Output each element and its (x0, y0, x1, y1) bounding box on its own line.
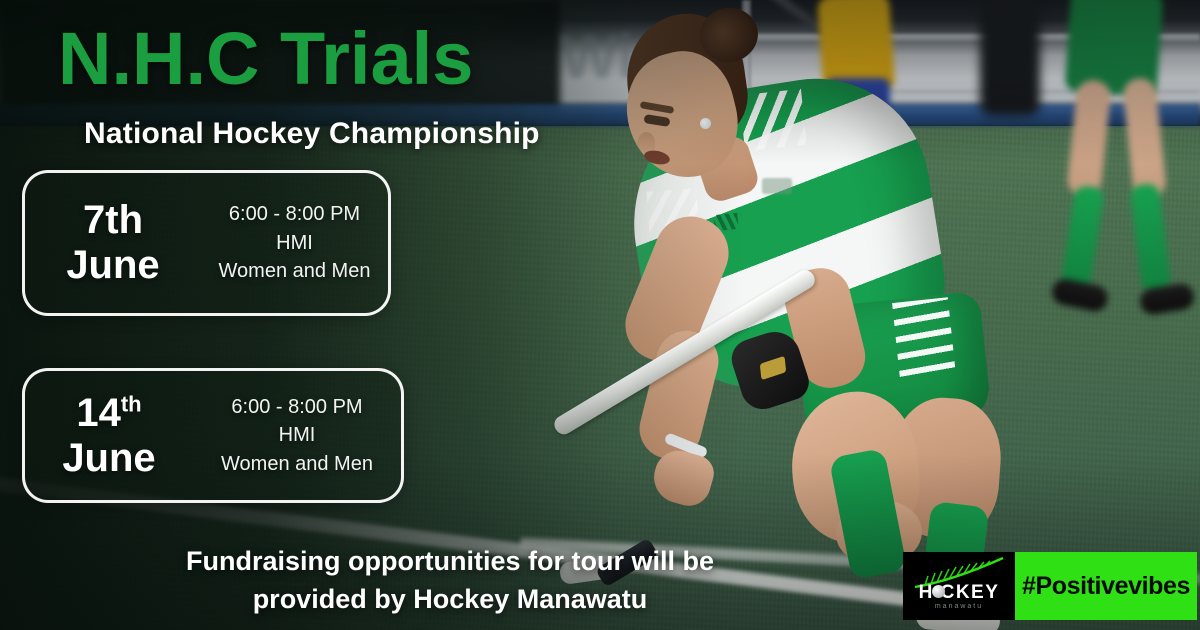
session-1-audience: Women and Men (201, 257, 388, 285)
session-2-details: 6:00 - 8:00 PM HMI Women and Men (193, 393, 401, 478)
session-1-month: June (66, 243, 159, 287)
hockey-ball-icon (932, 585, 945, 598)
session-2-month: June (62, 436, 155, 480)
hockey-manawatu-logo[interactable]: H CKEY manawatu (903, 552, 1015, 620)
hashtag-text: #Positivevibes (1022, 572, 1190, 601)
session-card-2[interactable]: 14th June 6:00 - 8:00 PM HMI Women and M… (22, 368, 404, 503)
session-2-venue: HMI (193, 421, 401, 449)
session-1-details: 6:00 - 8:00 PM HMI Women and Men (201, 200, 388, 285)
title-word-trials: Trials (280, 17, 473, 100)
session-1-day: 7th (83, 198, 143, 242)
session-1-time: 6:00 - 8:00 PM (201, 200, 388, 228)
session-1-venue: HMI (201, 229, 388, 257)
brand-strip: H CKEY manawatu #Positivevibes (903, 552, 1197, 620)
session-1-date: 7th June (25, 198, 201, 288)
logo-subtext: manawatu (903, 603, 1015, 610)
page-subtitle: National Hockey Championship (84, 117, 540, 151)
session-2-day-suffix: th (121, 391, 142, 416)
fundraising-note-line-2: provided by Hockey Manawatu (0, 580, 900, 618)
title-acronym: N.H.C (58, 17, 259, 100)
logo-wordmark: H CKEY (903, 582, 1015, 604)
session-2-audience: Women and Men (193, 450, 401, 478)
poster: Wind (0, 0, 1200, 630)
page-title: N.H.C Trials (58, 22, 473, 96)
session-card-1[interactable]: 7th June 6:00 - 8:00 PM HMI Women and Me… (22, 170, 391, 316)
session-2-date: 14th June (25, 391, 193, 481)
session-2-day-number: 14 (76, 391, 121, 435)
session-2-time: 6:00 - 8:00 PM (193, 393, 401, 421)
fundraising-note-line-1: Fundraising opportunities for tour will … (0, 542, 900, 580)
poster-content: N.H.C Trials National Hockey Championshi… (0, 0, 1200, 630)
hashtag-badge[interactable]: #Positivevibes (1015, 552, 1197, 620)
